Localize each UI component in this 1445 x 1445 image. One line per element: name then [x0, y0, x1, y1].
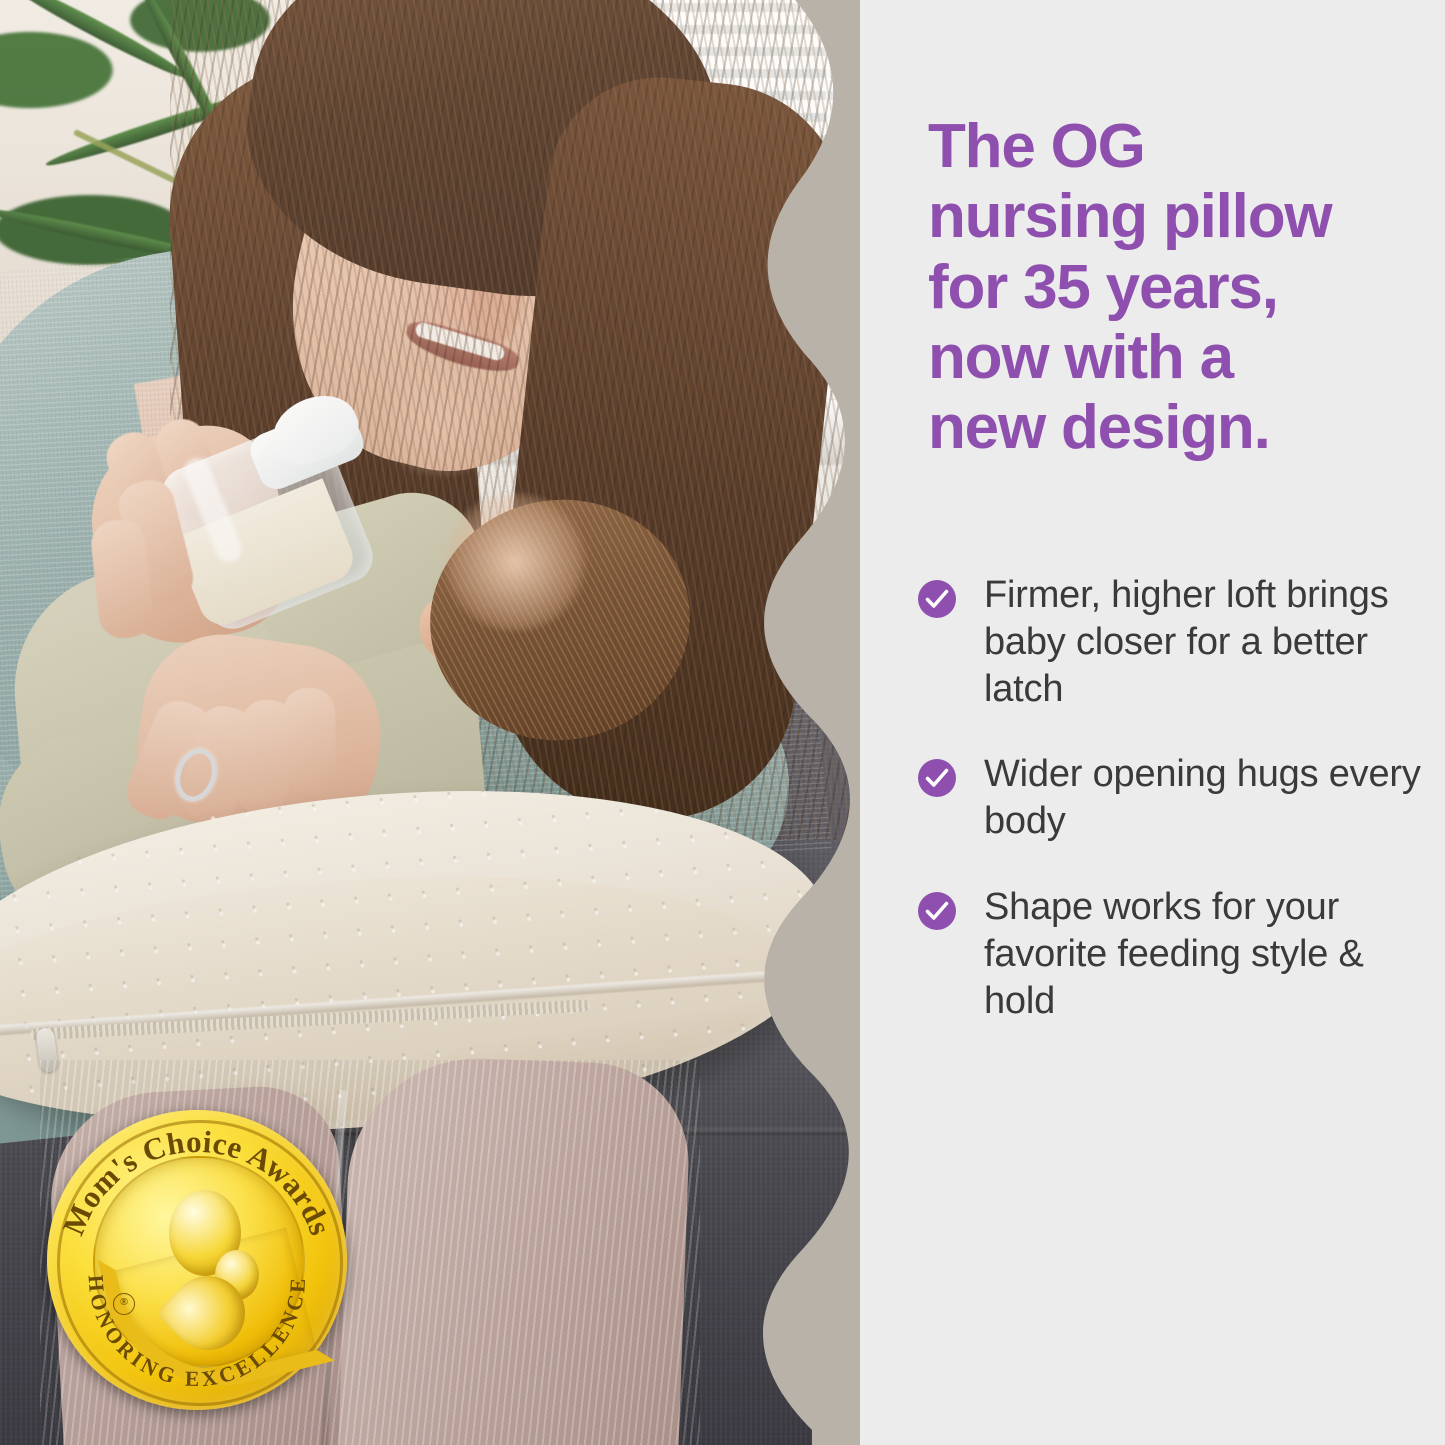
finger	[282, 687, 338, 793]
list-item: Shape works for your favorite feeding st…	[918, 884, 1438, 1025]
list-item: Firmer, higher loft brings baby closer f…	[918, 572, 1438, 713]
bullet-text: Wider opening hugs every body	[984, 751, 1438, 845]
moms-choice-awards-badge: ® Mom's Choice Awards HONORING EXCELLENC…	[47, 1110, 347, 1410]
page-title: The OG nursing pillow for 35 years, now …	[928, 112, 1433, 464]
badge-bottom-arc-text: HONORING EXCELLENCE	[84, 1274, 311, 1391]
baby-scalp-highlight	[440, 492, 590, 632]
headline-line-1: The OG	[928, 112, 1433, 182]
check-circle-icon	[918, 892, 956, 930]
feature-bullet-list: Firmer, higher loft brings baby closer f…	[918, 572, 1438, 1063]
headline-line-2: nursing pillow	[928, 182, 1433, 252]
badge-top-arc-text: Mom's Choice Awards	[56, 1124, 339, 1240]
check-circle-icon	[918, 580, 956, 618]
headline-line-5: new design.	[928, 393, 1433, 463]
product-feature-graphic: ® Mom's Choice Awards HONORING EXCELLENC…	[0, 0, 1445, 1445]
bullet-text: Shape works for your favorite feeding st…	[984, 884, 1438, 1025]
bullet-text: Firmer, higher loft brings baby closer f…	[984, 572, 1438, 713]
marketing-copy-panel: The OG nursing pillow for 35 years, now …	[840, 0, 1445, 1445]
headline-line-3: for 35 years,	[928, 253, 1433, 323]
check-circle-icon	[918, 759, 956, 797]
headline-line-4: now with a	[928, 323, 1433, 393]
list-item: Wider opening hugs every body	[918, 751, 1438, 845]
